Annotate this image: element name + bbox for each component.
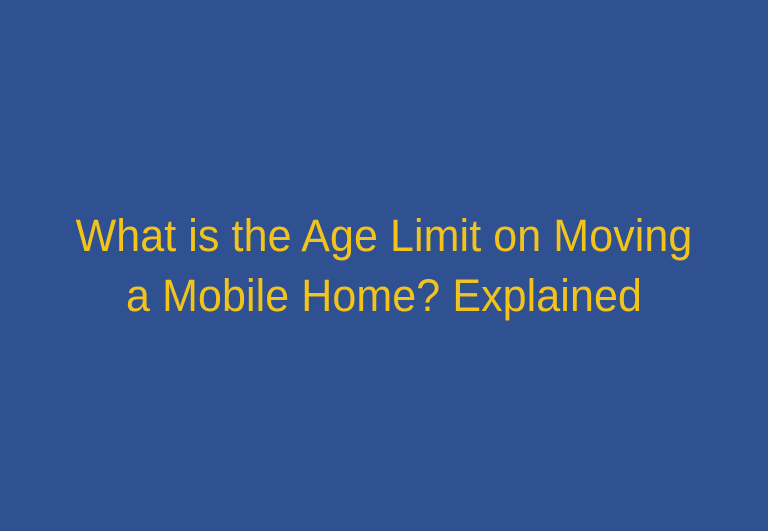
title-card: What is the Age Limit on Moving a Mobile… (0, 0, 768, 531)
page-title-line-1: What is the Age Limit on Moving (44, 206, 724, 266)
page-title-line-2: a Mobile Home? Explained (44, 266, 724, 326)
page-title: What is the Age Limit on Moving a Mobile… (17, 206, 750, 326)
